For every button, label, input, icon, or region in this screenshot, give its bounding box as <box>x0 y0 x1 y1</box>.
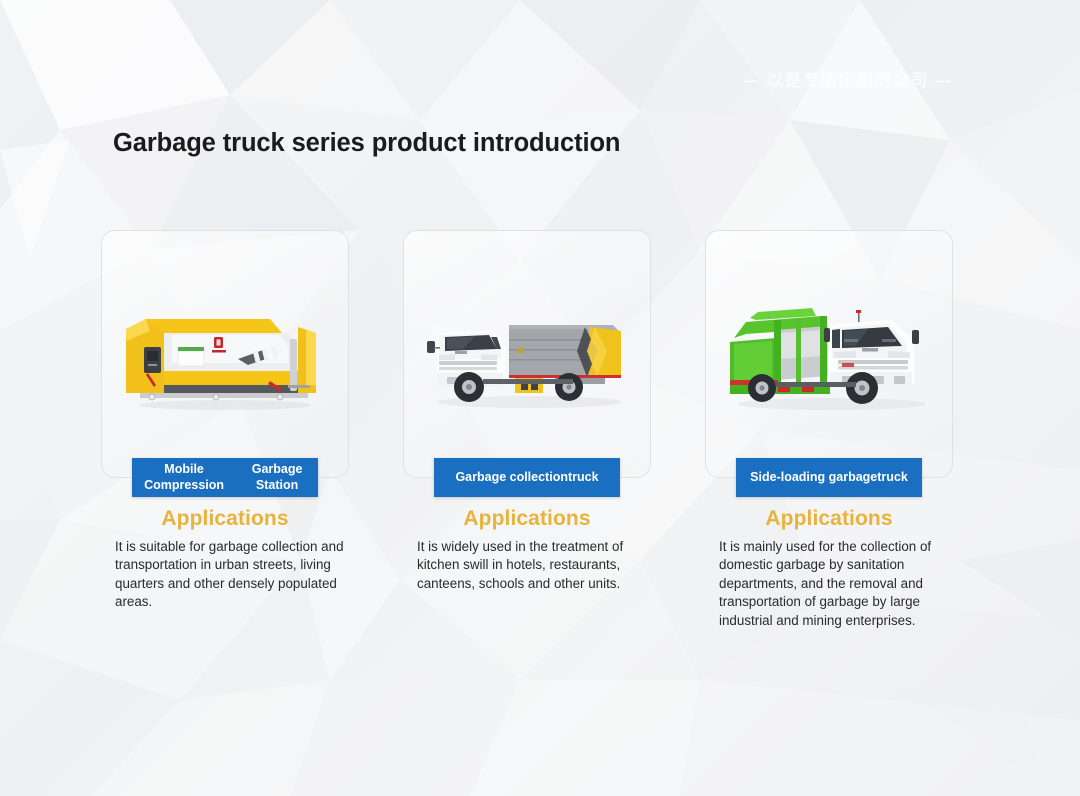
applications-heading: Applications <box>101 507 349 531</box>
product-image-card <box>705 230 953 478</box>
badge-line-1: Side-loading garbage <box>750 470 877 486</box>
product-card-mobile-compression-garbage-station[interactable]: Mobile Compression Garbage Station Appli… <box>101 230 351 478</box>
badge-line-1: Garbage collection <box>455 470 568 486</box>
slide-canvas: Garbage truck series product introductio… <box>0 0 1080 796</box>
product-name-badge: Mobile Compression Garbage Station <box>132 458 318 497</box>
product-name-badge: Side-loading garbage truck <box>736 458 922 497</box>
product-image-card <box>403 230 651 478</box>
product-name-badge: Garbage collection truck <box>434 458 620 497</box>
product-card-side-loading-garbage-truck[interactable]: Side-loading garbage truck Applications … <box>705 230 955 478</box>
badge-line-2: truck <box>568 470 599 486</box>
garbage-collection-truck-photo <box>404 259 650 449</box>
page-title: Garbage truck series product introductio… <box>113 129 620 158</box>
badge-line-2: Garbage Station <box>236 462 318 493</box>
applications-description: It is mainly used for the collection of … <box>719 538 951 630</box>
badge-line-1: Mobile Compression <box>132 462 236 493</box>
side-loading-garbage-truck-photo <box>706 259 952 449</box>
applications-heading: Applications <box>705 507 953 531</box>
product-columns: Mobile Compression Garbage Station Appli… <box>0 230 1080 660</box>
watermark-text: — 以是专店定制的公司 — <box>742 66 953 91</box>
product-image-card <box>101 230 349 478</box>
mobile-compression-garbage-station-photo <box>102 259 348 449</box>
applications-description: It is suitable for garbage collection an… <box>115 538 345 612</box>
product-card-garbage-collection-truck[interactable]: Garbage collection truck Applications It… <box>403 230 653 478</box>
applications-heading: Applications <box>403 507 651 531</box>
applications-description: It is widely used in the treatment of ki… <box>417 538 667 593</box>
badge-line-2: truck <box>877 470 908 486</box>
